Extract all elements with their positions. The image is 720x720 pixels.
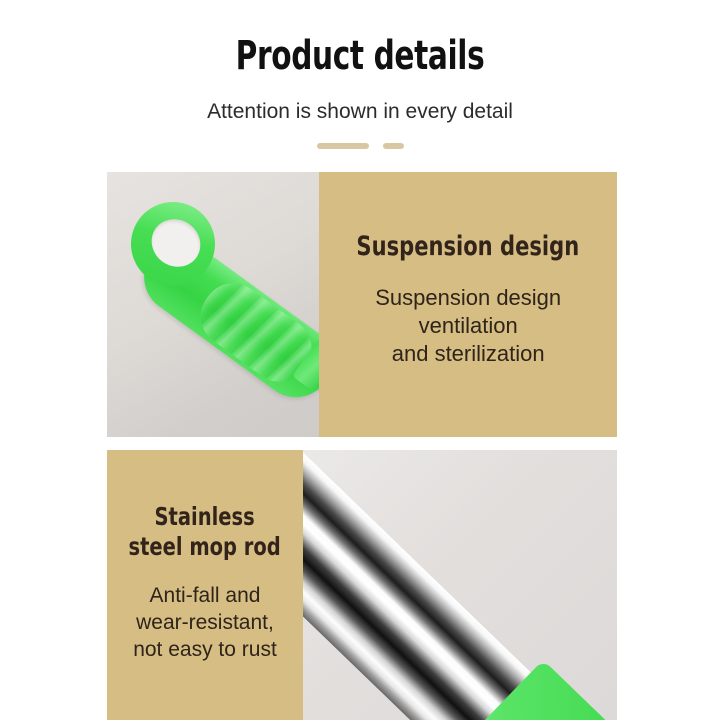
page-subtitle: Attention is shown in every detail xyxy=(0,99,720,125)
product-photo-steel-rod xyxy=(303,450,617,720)
feature-heading-line-2: steel mop rod xyxy=(129,532,281,562)
feature-body-stainless-steel-mop-rod: Anti-fall and wear-resistant, not easy t… xyxy=(133,582,277,663)
feature-heading-stainless-steel-mop-rod: Stainless steel mop rod xyxy=(107,502,302,562)
feature-card-stainless-steel-mop-rod: Stainless steel mop rod Anti-fall and we… xyxy=(107,450,617,720)
divider xyxy=(0,143,720,149)
feature-heading-suspension-design: Suspension design xyxy=(357,231,580,262)
mop-handle-illustration xyxy=(107,172,319,437)
page-header: Product details Attention is shown in ev… xyxy=(0,0,720,149)
feature-card-suspension-design: Suspension design Suspension design vent… xyxy=(107,172,617,437)
feature-body-suspension-design: Suspension design ventilation and steril… xyxy=(375,284,561,368)
page-title: Product details xyxy=(94,34,627,78)
steel-rod-illustration xyxy=(303,450,617,720)
divider-dash-long-icon xyxy=(317,143,369,149)
divider-dash-short-icon xyxy=(383,143,404,149)
product-photo-handle xyxy=(107,172,319,437)
feature-text-suspension-design: Suspension design Suspension design vent… xyxy=(319,172,617,437)
feature-heading-line-1: Stainless xyxy=(129,502,281,532)
feature-text-stainless-steel-mop-rod: Stainless steel mop rod Anti-fall and we… xyxy=(107,450,303,720)
